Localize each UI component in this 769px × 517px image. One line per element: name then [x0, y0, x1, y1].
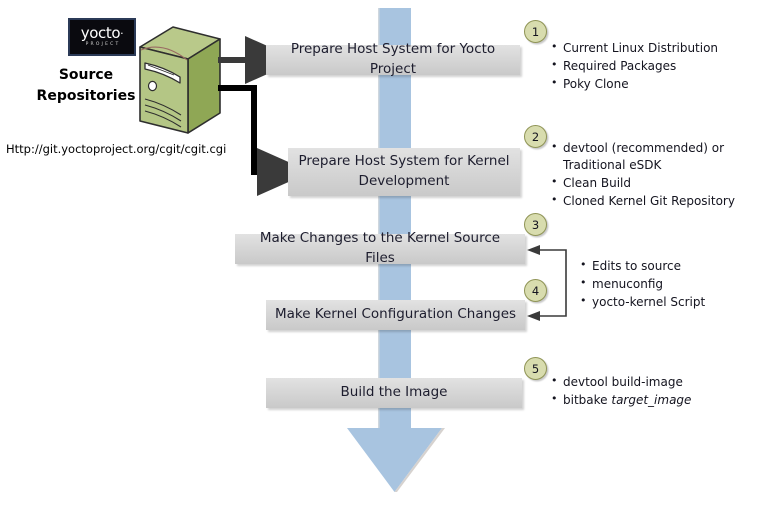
process-box-step-3-label: Make Changes to the Kernel Source Files — [243, 229, 517, 268]
process-box-step-3[interactable]: Make Changes to the Kernel Source Files — [235, 234, 525, 264]
step-number-5-value: 5 — [532, 362, 539, 376]
step-number-4: 4 — [524, 279, 547, 302]
process-box-step-5-label: Build the Image — [341, 383, 448, 403]
bitbake-command: bitbake — [563, 393, 611, 407]
yocto-logo-dot: · — [120, 27, 123, 40]
bullet-item: devtool (recommended) or Traditional eSD… — [551, 140, 733, 174]
bullet-item: Cloned Kernel Git Repository — [551, 193, 735, 210]
bullet-item: Clean Build — [551, 175, 735, 192]
diagram-canvas: yocto· PROJECT Source Repositories Http:… — [0, 0, 769, 517]
process-box-step-4[interactable]: Make Kernel Configuration Changes — [266, 300, 525, 330]
step-number-3: 3 — [524, 213, 547, 236]
step-number-1: 1 — [524, 20, 547, 43]
step-number-1-value: 1 — [532, 25, 539, 39]
server-tower-icon — [128, 25, 228, 140]
bullet-item: Required Packages — [551, 58, 718, 75]
process-box-step-1[interactable]: Prepare Host System for Yocto Project — [266, 45, 520, 75]
bullet-item: Edits to source — [580, 258, 705, 275]
bullet-item: menuconfig — [580, 276, 705, 293]
source-repository-url: Http://git.yoctoproject.org/cgit/cgit.cg… — [6, 142, 226, 156]
step-number-3-value: 3 — [532, 218, 539, 232]
process-box-step-2-label: Prepare Host System for Kernel Developme… — [296, 152, 512, 191]
bullets-steps-3-4: Edits to source menuconfig yocto-kernel … — [580, 258, 705, 312]
process-box-step-5[interactable]: Build the Image — [266, 378, 522, 408]
step-number-5: 5 — [524, 357, 547, 380]
bullet-item: devtool build-image — [551, 374, 691, 391]
bullets-step-1: Current Linux Distribution Required Pack… — [551, 40, 718, 94]
yocto-project-logo: yocto· PROJECT — [68, 18, 136, 56]
step-number-2-value: 2 — [532, 130, 539, 144]
bullet-item-bitbake: bitbake target_image — [551, 392, 691, 409]
process-box-step-4-label: Make Kernel Configuration Changes — [275, 305, 516, 325]
bullets-step-5: devtool build-image bitbake target_image — [551, 374, 691, 410]
step-number-2: 2 — [524, 125, 547, 148]
yocto-logo-word: yocto — [81, 24, 120, 42]
bullet-item: Current Linux Distribution — [551, 40, 718, 57]
bullet-item: yocto-kernel Script — [580, 294, 705, 311]
step-number-4-value: 4 — [532, 284, 539, 298]
process-box-step-2[interactable]: Prepare Host System for Kernel Developme… — [288, 148, 520, 196]
bullets-step-2: devtool (recommended) or Traditional eSD… — [551, 140, 735, 211]
bitbake-target-arg: target_image — [611, 393, 691, 407]
bullet-item: Poky Clone — [551, 76, 718, 93]
yocto-logo-subtitle: PROJECT — [86, 43, 121, 48]
process-box-step-1-label: Prepare Host System for Yocto Project — [274, 40, 512, 79]
